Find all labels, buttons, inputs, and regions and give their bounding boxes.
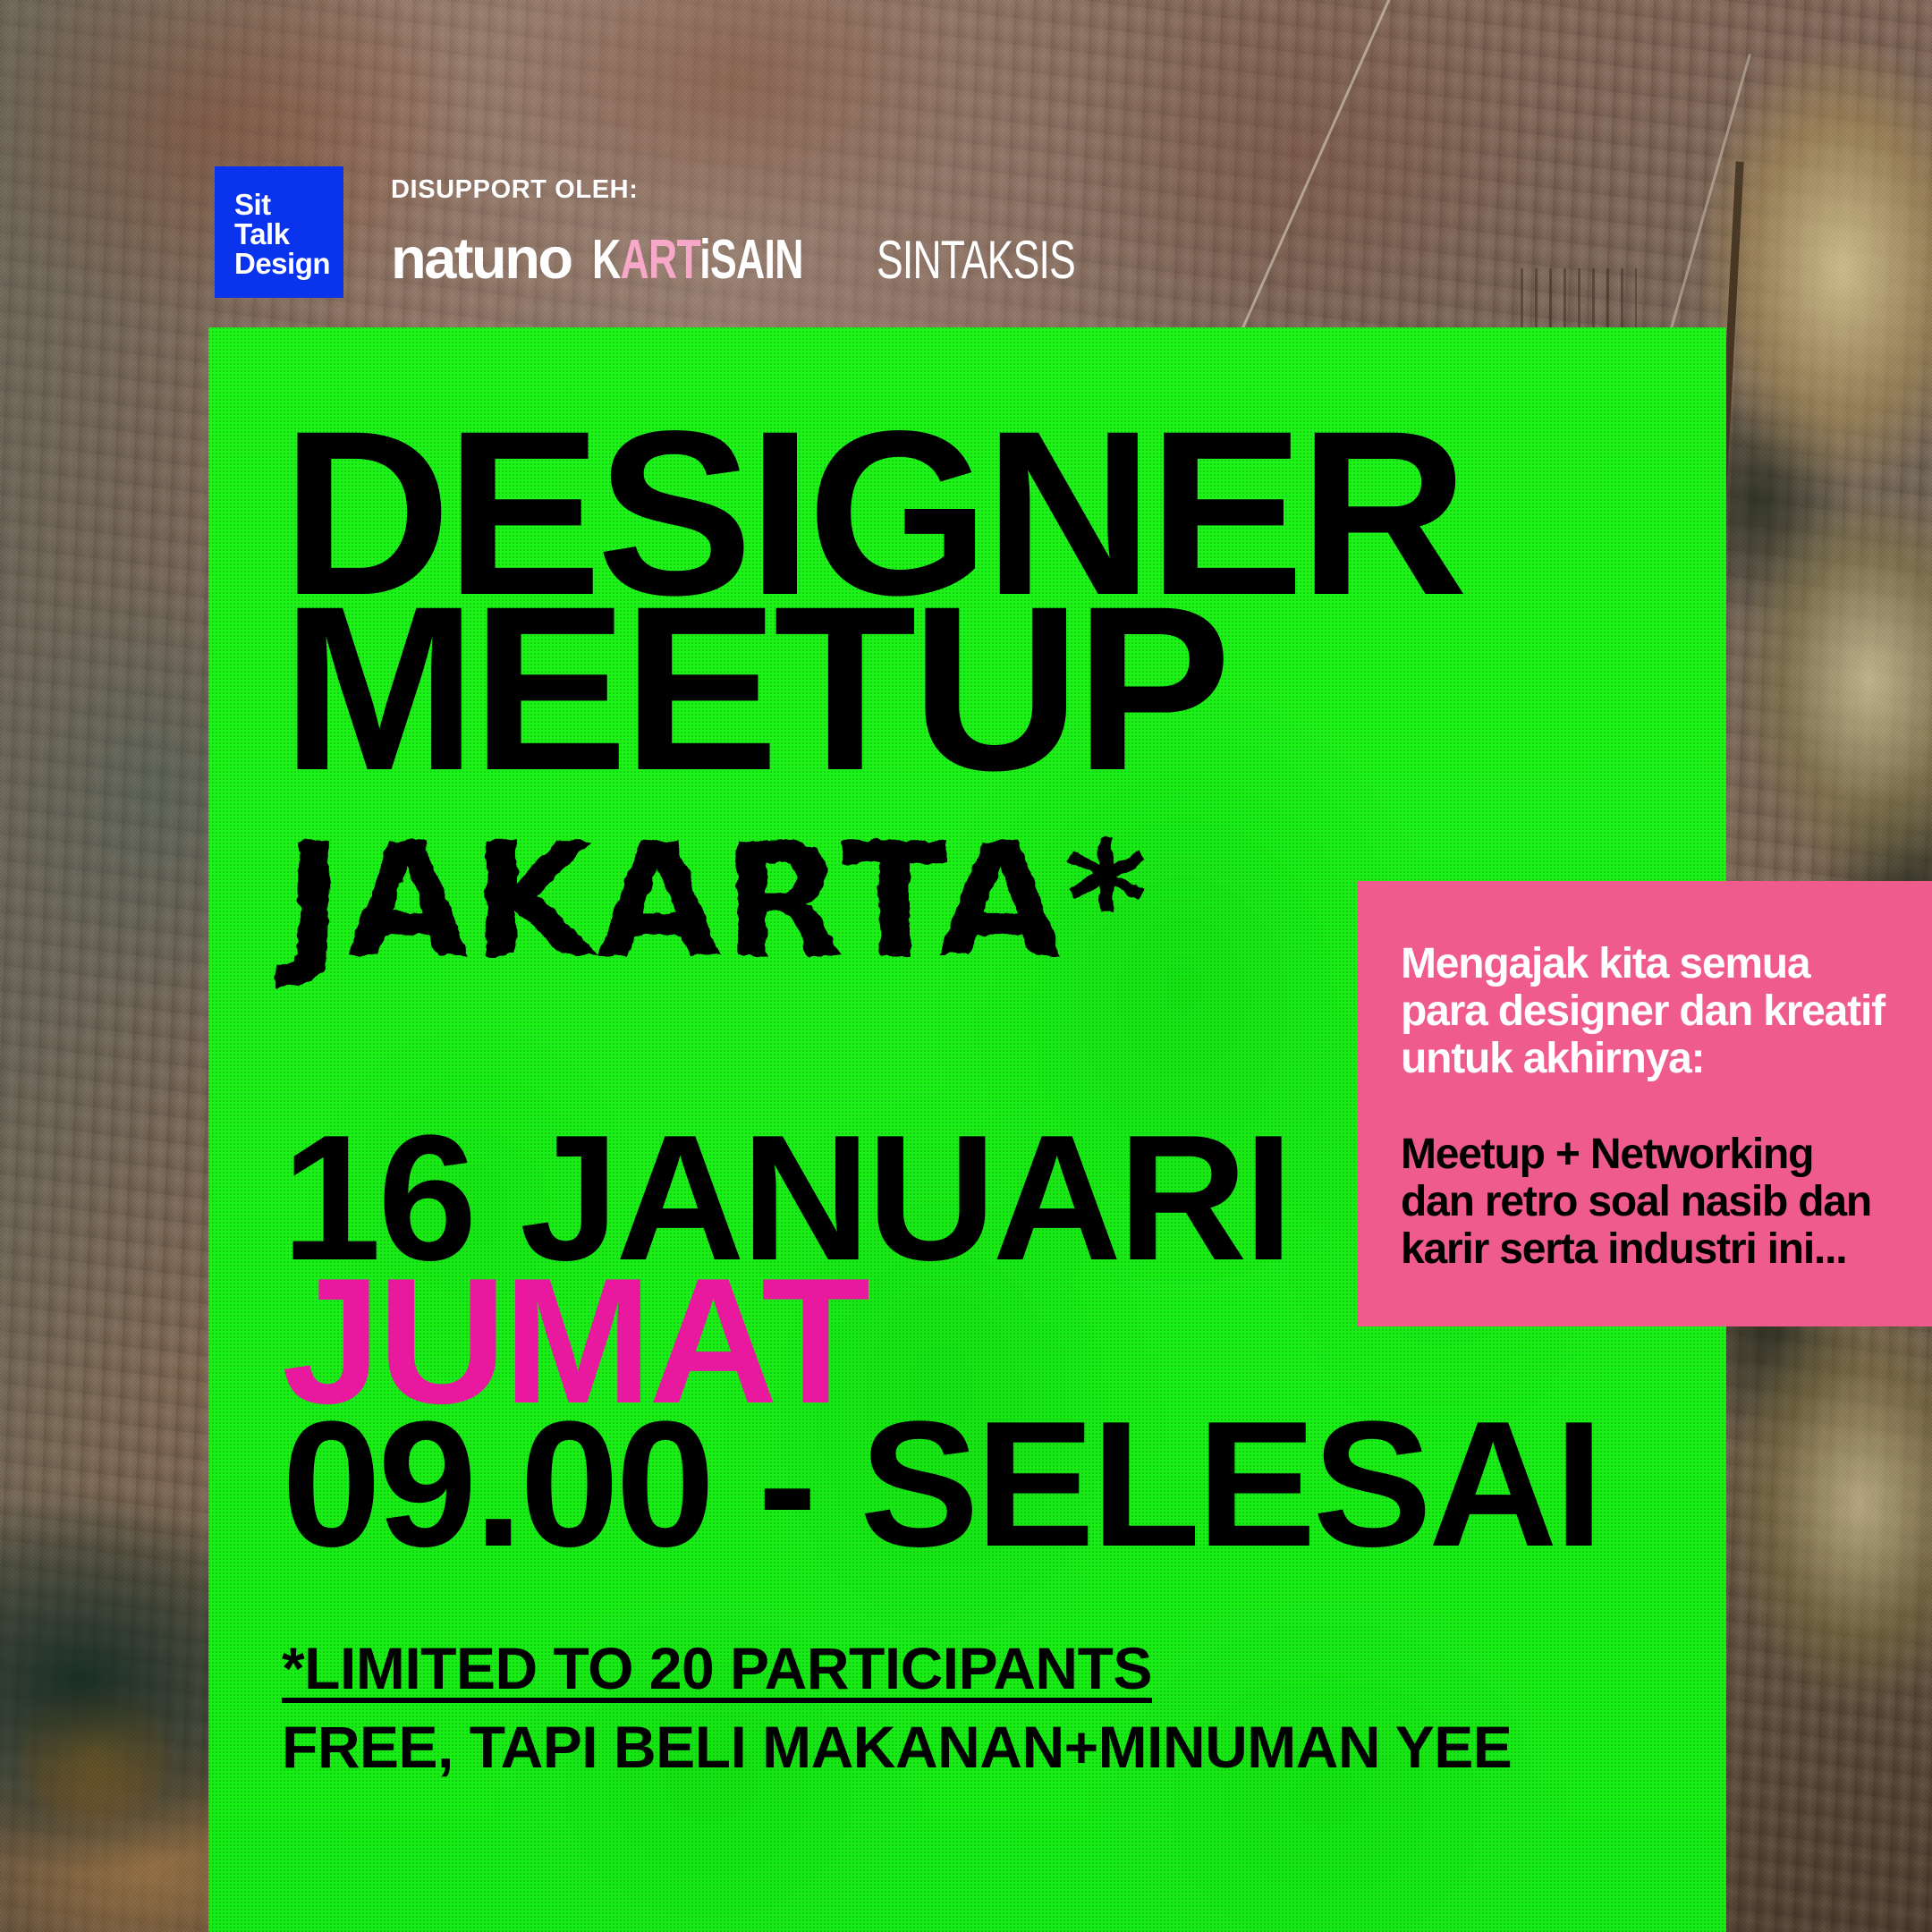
event-headline: DESIGNER MEETUP bbox=[282, 426, 1462, 776]
logo-line-1: Sit bbox=[234, 190, 330, 219]
footnote-capacity: *LIMITED TO 20 PARTICIPANTS bbox=[282, 1635, 1152, 1701]
headline-city-jakarta: JAKARTA* bbox=[284, 805, 1268, 993]
city-text-node: JAKARTA* bbox=[275, 809, 1151, 993]
poster-canvas: Sit Talk Design DISUPPORT OLEH: natuno K… bbox=[0, 0, 1932, 1932]
kartisain-part-isain: iSAIN bbox=[699, 229, 802, 291]
footnote-cost: FREE, TAPI BELI MAKANAN+MINUMAN YEE bbox=[282, 1714, 1512, 1780]
supported-by-label: DISUPPORT OLEH: bbox=[391, 175, 1145, 205]
kartisain-part-k: K bbox=[592, 229, 621, 291]
sponsor-logo-kartisain[interactable]: KARTiSAIN bbox=[592, 228, 803, 292]
event-time: 09.00 - SELESAI bbox=[282, 1413, 1600, 1556]
info-callout-box: Mengajak kita semua para designer dan kr… bbox=[1358, 881, 1932, 1326]
brand-logo-text: Sit Talk Design bbox=[234, 190, 330, 278]
event-footnotes: *LIMITED TO 20 PARTICIPANTS FREE, TAPI B… bbox=[282, 1635, 1512, 1780]
kartisain-part-art: ART bbox=[620, 229, 699, 291]
logo-line-3: Design bbox=[234, 249, 330, 278]
info-paragraph-intro: Mengajak kita semua para designer dan kr… bbox=[1401, 940, 1896, 1082]
sponsor-logo-sintaksis[interactable]: SINTAKSIS bbox=[877, 229, 1075, 291]
city-handwritten-svg: JAKARTA* bbox=[284, 805, 1268, 993]
brand-logo-box[interactable]: Sit Talk Design bbox=[215, 166, 343, 298]
logo-line-2: Talk bbox=[234, 219, 330, 249]
supported-by-block: DISUPPORT OLEH: natuno KARTiSAIN SINTAKS… bbox=[391, 175, 1145, 292]
sponsor-logo-natuno[interactable]: natuno bbox=[391, 225, 572, 292]
sponsor-logo-row: natuno KARTiSAIN SINTAKSIS bbox=[391, 225, 1145, 292]
info-paragraph-agenda: Meetup + Networking dan retro soal nasib… bbox=[1401, 1131, 1896, 1273]
